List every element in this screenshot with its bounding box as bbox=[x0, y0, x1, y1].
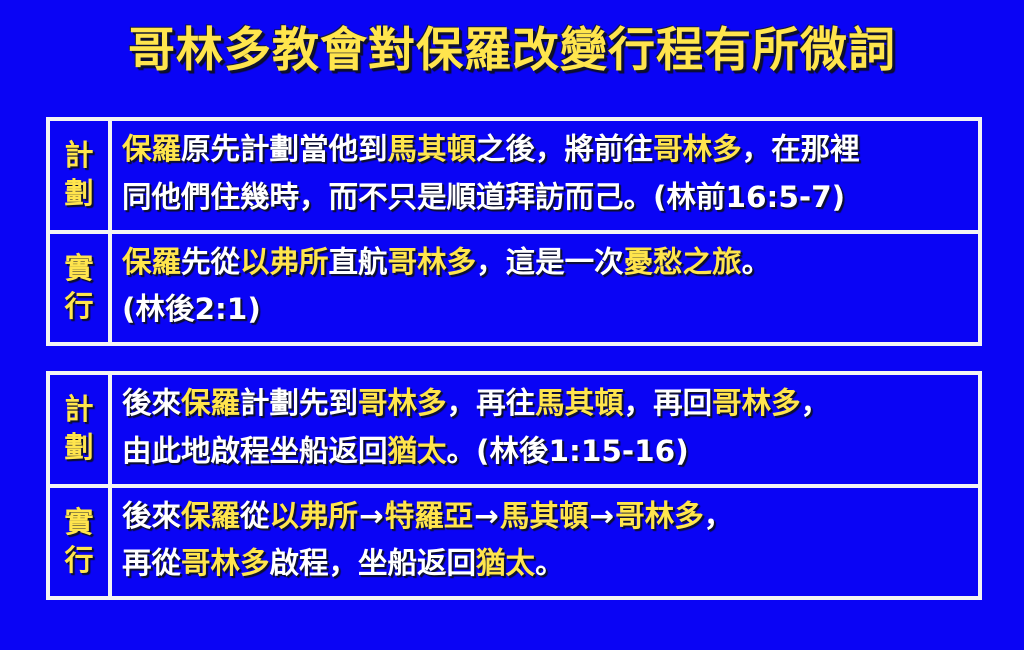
plan-actual-table-2: 計劃後來保羅計劃先到哥林多，再往馬其頓，再回哥林多，由此地啟程坐船返回猶太。(林… bbox=[46, 371, 982, 600]
table-row: 計劃後來保羅計劃先到哥林多，再往馬其頓，再回哥林多，由此地啟程坐船返回猶太。(林… bbox=[50, 375, 978, 484]
highlighted-term: 哥林多 bbox=[181, 546, 270, 580]
highlighted-term: 哥林多 bbox=[388, 245, 477, 279]
highlighted-term: 保羅 bbox=[181, 499, 240, 533]
row-label-char: 實 bbox=[64, 249, 93, 287]
text-run: 由此地啟程坐船返回 bbox=[122, 434, 388, 468]
highlighted-term: 猶太 bbox=[476, 546, 535, 580]
text-run: ，再往 bbox=[447, 386, 536, 420]
table-row: 實行後來保羅從以弗所→特羅亞→馬其頓→哥林多，再從哥林多啟程，坐船返回猶太。 bbox=[50, 484, 978, 597]
text-run: 之後，將前往 bbox=[476, 132, 653, 166]
row-label-char: 計 bbox=[64, 136, 93, 174]
row-label-char: 劃 bbox=[64, 428, 93, 466]
highlighted-term: 保羅 bbox=[122, 132, 181, 166]
content-line: 後來保羅計劃先到哥林多，再往馬其頓，再回哥林多， bbox=[122, 380, 970, 428]
arrow-icon: → bbox=[589, 499, 616, 533]
table-row: 計劃保羅原先計劃當他到馬其頓之後，將前往哥林多，在那裡同他們住幾時，而不只是順道… bbox=[50, 121, 978, 230]
text-run: ， bbox=[801, 386, 831, 420]
highlighted-term: 哥林多 bbox=[653, 132, 742, 166]
highlighted-term: 馬其頓 bbox=[388, 132, 477, 166]
content-line: 保羅原先計劃當他到馬其頓之後，將前往哥林多，在那裡 bbox=[122, 126, 970, 174]
plan-actual-table-1: 計劃保羅原先計劃當他到馬其頓之後，將前往哥林多，在那裡同他們住幾時，而不只是順道… bbox=[46, 117, 982, 346]
content-line: (林後2:1) bbox=[122, 286, 970, 334]
text-run: 。 bbox=[447, 434, 477, 468]
text-run: ， bbox=[704, 499, 734, 533]
highlighted-term: 以弗所 bbox=[240, 245, 329, 279]
text-run: 先從 bbox=[181, 245, 240, 279]
text-run: 後來 bbox=[122, 499, 181, 533]
text-run: 計劃先到 bbox=[240, 386, 358, 420]
content-line: 再從哥林多啟程，坐船返回猶太。 bbox=[122, 540, 970, 588]
text-run: ，再回 bbox=[624, 386, 713, 420]
highlighted-term: 猶太 bbox=[388, 434, 447, 468]
row-label-計劃: 計劃 bbox=[50, 375, 112, 484]
text-run: 。 bbox=[535, 546, 565, 580]
highlighted-term: 哥林多 bbox=[358, 386, 447, 420]
highlighted-term: 保羅 bbox=[181, 386, 240, 420]
arrow-icon: → bbox=[473, 499, 500, 533]
content-line: 同他們住幾時，而不只是順道拜訪而己。(林前16:5-7) bbox=[122, 174, 970, 222]
row-label-char: 實 bbox=[64, 503, 93, 541]
row-content: 保羅原先計劃當他到馬其頓之後，將前往哥林多，在那裡同他們住幾時，而不只是順道拜訪… bbox=[112, 121, 978, 230]
row-label-char: 行 bbox=[64, 287, 93, 325]
row-label-char: 計 bbox=[64, 390, 93, 428]
row-content: 後來保羅計劃先到哥林多，再往馬其頓，再回哥林多，由此地啟程坐船返回猶太。(林後1… bbox=[112, 375, 978, 484]
text-run: 後來 bbox=[122, 386, 181, 420]
title-container: 哥林多教會對保羅改變行程有所微詞 bbox=[0, 26, 1024, 77]
text-run: ，在那裡 bbox=[742, 132, 860, 166]
content-line: 後來保羅從以弗所→特羅亞→馬其頓→哥林多， bbox=[122, 493, 970, 541]
highlighted-term: 以弗所 bbox=[270, 499, 359, 533]
highlighted-term: 哥林多 bbox=[712, 386, 801, 420]
page-title: 哥林多教會對保羅改變行程有所微詞 bbox=[128, 26, 896, 77]
highlighted-term: 特羅亞 bbox=[385, 499, 474, 533]
highlighted-term: 馬其頓 bbox=[500, 499, 589, 533]
arrow-icon: → bbox=[358, 499, 385, 533]
row-content: 保羅先從以弗所直航哥林多，這是一次憂愁之旅。(林後2:1) bbox=[112, 234, 978, 343]
slide-canvas: 哥林多教會對保羅改變行程有所微詞 計劃保羅原先計劃當他到馬其頓之後，將前往哥林多… bbox=[0, 0, 1024, 650]
row-label-實行: 實行 bbox=[50, 488, 112, 597]
text-run: 同他們住幾時，而不只是順道拜訪而己。 bbox=[122, 180, 653, 214]
text-run: 從 bbox=[240, 499, 270, 533]
row-label-char: 劃 bbox=[64, 174, 93, 212]
text-run: 直航 bbox=[329, 245, 388, 279]
content-line: 由此地啟程坐船返回猶太。(林後1:15-16) bbox=[122, 428, 970, 476]
scripture-reference: (林後1:15-16) bbox=[476, 434, 689, 468]
highlighted-term: 保羅 bbox=[122, 245, 181, 279]
text-run: ，這是一次 bbox=[476, 245, 624, 279]
scripture-reference: (林後2:1) bbox=[122, 292, 261, 326]
row-label-char: 行 bbox=[64, 541, 93, 579]
highlighted-term: 憂愁之旅 bbox=[624, 245, 742, 279]
highlighted-term: 哥林多 bbox=[615, 499, 704, 533]
text-run: 啟程，坐船返回 bbox=[270, 546, 477, 580]
table-row: 實行保羅先從以弗所直航哥林多，這是一次憂愁之旅。(林後2:1) bbox=[50, 230, 978, 343]
row-content: 後來保羅從以弗所→特羅亞→馬其頓→哥林多，再從哥林多啟程，坐船返回猶太。 bbox=[112, 488, 978, 597]
scripture-reference: (林前16:5-7) bbox=[653, 180, 845, 214]
row-label-計劃: 計劃 bbox=[50, 121, 112, 230]
text-run: 再從 bbox=[122, 546, 181, 580]
text-run: 。 bbox=[742, 245, 772, 279]
text-run: 原先計劃當他到 bbox=[181, 132, 388, 166]
highlighted-term: 馬其頓 bbox=[535, 386, 624, 420]
row-label-實行: 實行 bbox=[50, 234, 112, 343]
content-line: 保羅先從以弗所直航哥林多，這是一次憂愁之旅。 bbox=[122, 239, 970, 287]
